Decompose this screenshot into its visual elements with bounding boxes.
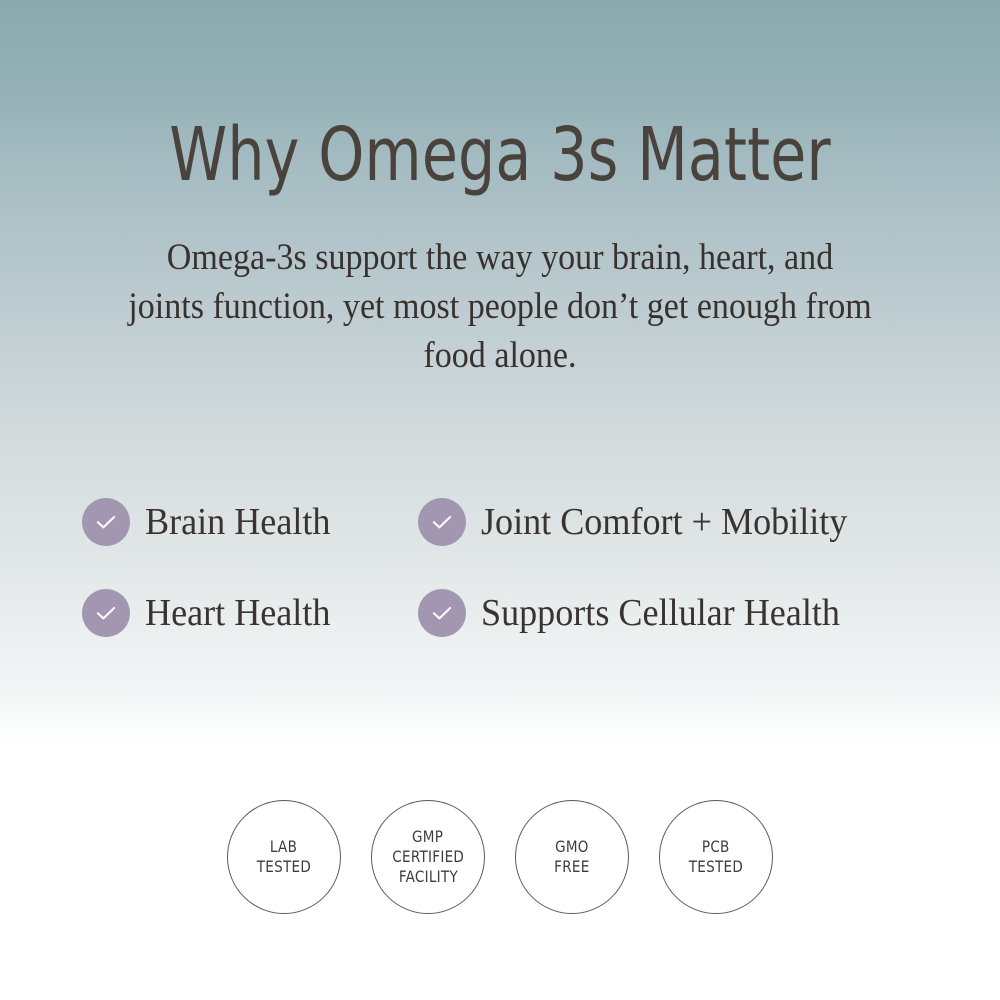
benefit-item-joint-comfort-mobility: Joint Comfort + Mobility xyxy=(418,498,942,546)
trust-badge-line: FACILITY xyxy=(398,867,457,887)
check-icon xyxy=(82,589,130,637)
trust-badge-line: GMP xyxy=(412,827,443,847)
benefit-label: Heart Health xyxy=(145,594,330,632)
trust-badge-row: LAB TESTED GMP CERTIFIED FACILITY GMO FR… xyxy=(0,800,1000,914)
trust-badge-pcb-tested: PCB TESTED xyxy=(659,800,773,914)
trust-badge-line: LAB xyxy=(270,837,297,857)
benefits-list: Brain Health Joint Comfort + Mobility He… xyxy=(82,498,942,680)
trust-badge-lab-tested: LAB TESTED xyxy=(227,800,341,914)
check-icon xyxy=(82,498,130,546)
trust-badge-line: FREE xyxy=(554,857,589,877)
benefit-label: Supports Cellular Health xyxy=(481,594,840,632)
trust-badge-line: CERTIFIED xyxy=(392,847,464,867)
trust-badge-line: TESTED xyxy=(257,857,311,877)
omega3-benefits-poster: Why Omega 3s Matter Omega-3s support the… xyxy=(0,0,1000,1000)
benefit-item-heart-health: Heart Health xyxy=(82,589,418,637)
page-title: Why Omega 3s Matter xyxy=(60,118,940,192)
trust-badge-gmp-certified-facility: GMP CERTIFIED FACILITY xyxy=(371,800,485,914)
trust-badge-line: TESTED xyxy=(689,857,743,877)
hero-section: Why Omega 3s Matter Omega-3s support the… xyxy=(0,0,1000,380)
trust-badge-line: GMO xyxy=(555,837,589,857)
page-subtitle: Omega-3s support the way your brain, hea… xyxy=(127,233,872,380)
benefit-label: Brain Health xyxy=(145,503,330,541)
trust-badge-line: PCB xyxy=(702,837,730,857)
benefit-item-supports-cellular-health: Supports Cellular Health xyxy=(418,589,942,637)
benefit-label: Joint Comfort + Mobility xyxy=(481,503,847,541)
check-icon xyxy=(418,589,466,637)
benefit-item-brain-health: Brain Health xyxy=(82,498,418,546)
trust-badge-gmo-free: GMO FREE xyxy=(515,800,629,914)
check-icon xyxy=(418,498,466,546)
